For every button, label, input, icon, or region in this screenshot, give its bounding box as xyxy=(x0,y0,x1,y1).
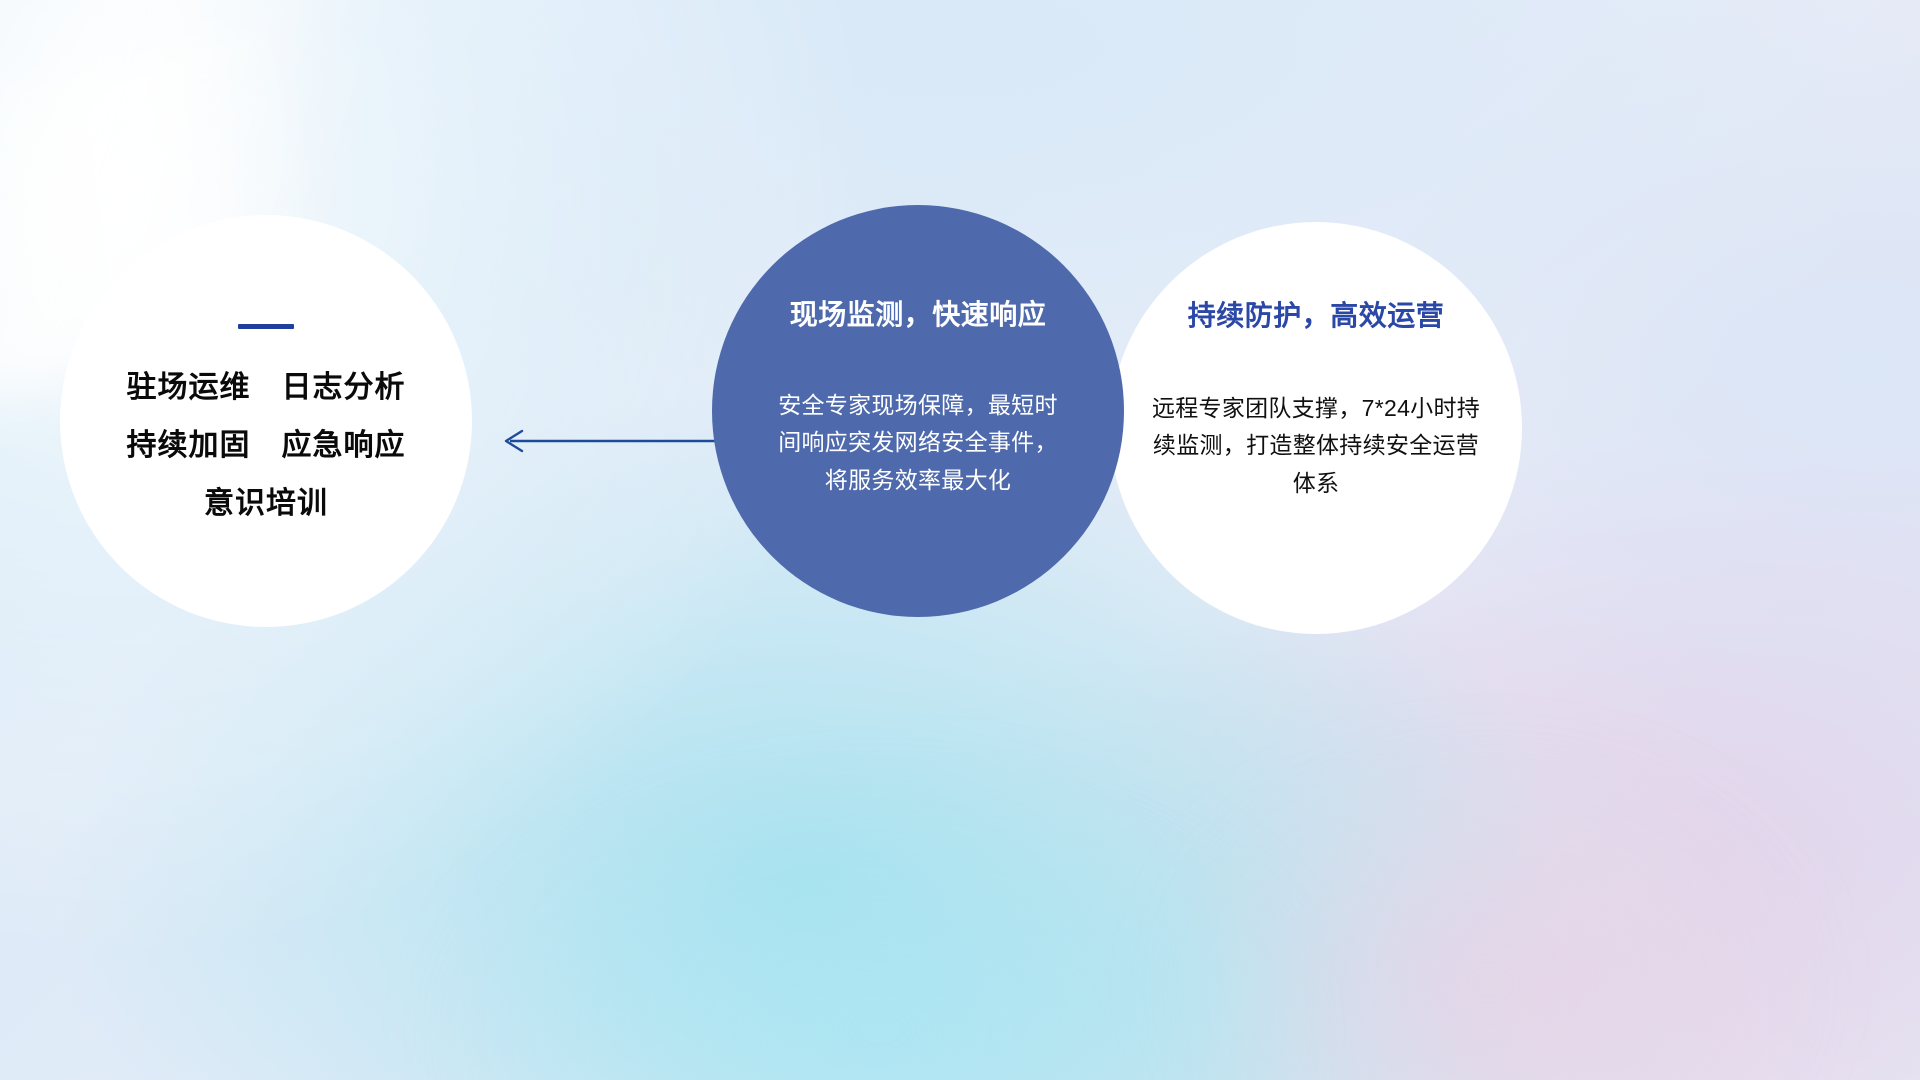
accent-dash-divider xyxy=(238,324,294,329)
left-circle-line-1: 驻场运维 日志分析 xyxy=(127,373,406,403)
middle-circle-body-text: 安全专家现场保障，最短时间响应突发网络安全事件，将服务效率最大化 xyxy=(768,387,1068,499)
flow-arrow-icon xyxy=(492,420,732,462)
right-circle-heading: 持续防护，高效运营 xyxy=(1188,294,1445,334)
right-circle-body-text: 远程专家团队支撑，7*24小时持续监测，打造整体持续安全运营体系 xyxy=(1146,390,1486,502)
middle-onsite-monitoring-circle: 现场监测，快速响应 安全专家现场保障，最短时间响应突发网络安全事件，将服务效率最… xyxy=(712,205,1124,617)
left-circle-line-3: 意识培训 xyxy=(204,489,328,519)
middle-circle-heading: 现场监测，快速响应 xyxy=(790,293,1047,333)
right-continuous-protection-circle: 持续防护，高效运营 远程专家团队支撑，7*24小时持续监测，打造整体持续安全运营… xyxy=(1110,222,1522,634)
left-service-circle: 驻场运维 日志分析 持续加固 应急响应 意识培训 xyxy=(60,215,472,627)
left-circle-line-2: 持续加固 应急响应 xyxy=(127,431,406,461)
background-pink-glow xyxy=(1180,770,1800,1080)
